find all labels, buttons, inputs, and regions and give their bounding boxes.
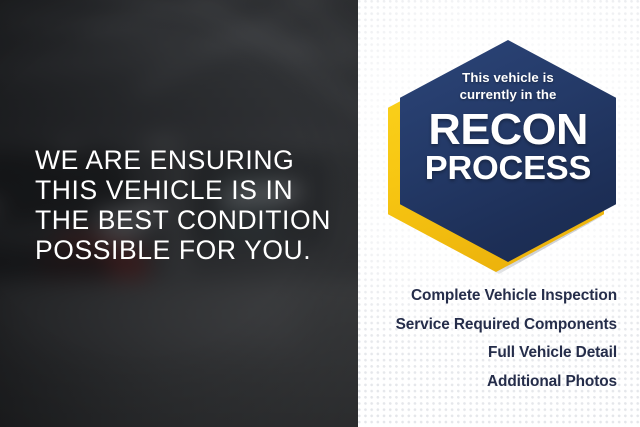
recon-process-badge: This vehicle is currently in the RECON P… <box>370 22 628 274</box>
badge-text-group: This vehicle is currently in the RECON P… <box>400 40 616 262</box>
badge-kicker-text: This vehicle is currently in the <box>460 70 557 103</box>
badge-secondary-word: PROCESS <box>425 150 591 186</box>
left-photo-panel: WE ARE ENSURING THIS VEHICLE IS IN THE B… <box>0 0 358 427</box>
list-item: Full Vehicle Detail <box>358 339 617 368</box>
feature-list: Complete Vehicle Inspection Service Requ… <box>358 282 617 396</box>
badge-primary-word: RECON <box>428 109 588 150</box>
headline-text: WE ARE ENSURING THIS VEHICLE IS IN THE B… <box>35 145 335 265</box>
list-item: Additional Photos <box>358 368 617 397</box>
right-info-panel: This vehicle is currently in the RECON P… <box>358 0 640 427</box>
list-item: Service Required Components <box>358 311 617 340</box>
promo-banner: WE ARE ENSURING THIS VEHICLE IS IN THE B… <box>0 0 640 427</box>
list-item: Complete Vehicle Inspection <box>358 282 617 311</box>
